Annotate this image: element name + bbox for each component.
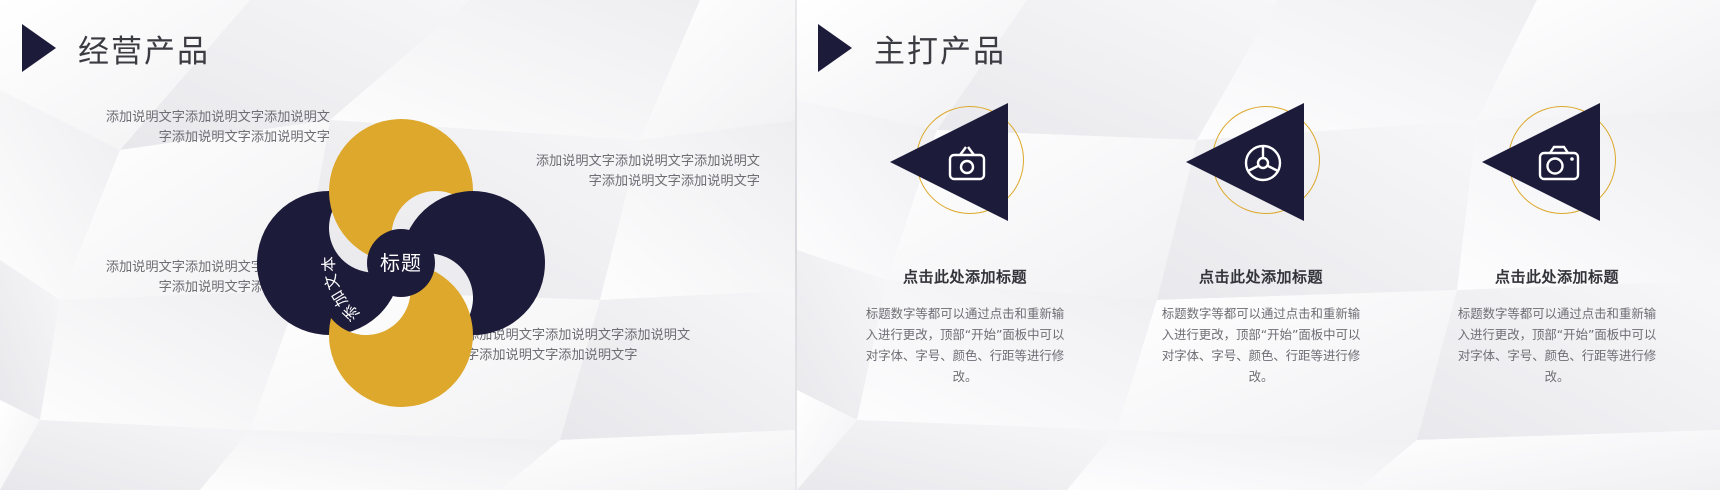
product-card-2[interactable]: 点击此处添加标题 标题数字等都可以通过点击和重新输入进行更改，顶部“开始”面板中… xyxy=(1113,100,1409,387)
slide-divider xyxy=(795,0,797,490)
product-card-1-body: 标题数字等都可以通过点击和重新输入进行更改，顶部“开始”面板中可以对字体、字号、… xyxy=(865,303,1065,387)
icon-wrapper-1 xyxy=(890,100,1040,222)
triangle-right-icon xyxy=(22,24,56,72)
product-card-3[interactable]: 点击此处添加标题 标题数字等都可以通过点击和重新输入进行更改，顶部“开始”面板中… xyxy=(1409,100,1705,387)
slide-right: 主打产品 xyxy=(797,0,1720,490)
product-cards: 点击此处添加标题 标题数字等都可以通过点击和重新输入进行更改，顶部“开始”面板中… xyxy=(817,100,1707,387)
product-card-2-title: 点击此处添加标题 xyxy=(1199,266,1323,287)
presentation-slides: 经营产品 添加说明文字添加说明文字添加说明文 字添加说明文字添加说明文字 添加说… xyxy=(0,0,1720,490)
product-card-3-body: 标题数字等都可以通过点击和重新输入进行更改，顶部“开始”面板中可以对字体、字号、… xyxy=(1457,303,1657,387)
product-card-1[interactable]: 点击此处添加标题 标题数字等都可以通过点击和重新输入进行更改，顶部“开始”面板中… xyxy=(817,100,1113,387)
page-title: 主打产品 xyxy=(874,26,1006,71)
triangle-right-icon xyxy=(818,24,852,72)
right-slide-header: 主打产品 xyxy=(818,24,1006,72)
triangle-left-icon xyxy=(1482,103,1642,221)
product-card-3-title: 点击此处添加标题 xyxy=(1495,266,1619,287)
triangle-left-icon xyxy=(1186,103,1346,221)
pinwheel-hub-label: 标题 xyxy=(380,251,422,275)
triangle-left-icon xyxy=(890,103,1050,221)
icon-wrapper-3 xyxy=(1482,100,1632,222)
pinwheel-diagram: 添加文本 添加文本 添加文本 xyxy=(256,118,546,408)
slide-left: 经营产品 添加说明文字添加说明文字添加说明文 字添加说明文字添加说明文字 添加说… xyxy=(0,0,797,490)
product-card-2-body: 标题数字等都可以通过点击和重新输入进行更改，顶部“开始”面板中可以对字体、字号、… xyxy=(1161,303,1361,387)
left-slide-header: 经营产品 xyxy=(22,24,210,72)
icon-wrapper-2 xyxy=(1186,100,1336,222)
page-title: 经营产品 xyxy=(78,26,210,71)
product-card-1-title: 点击此处添加标题 xyxy=(903,266,1027,287)
